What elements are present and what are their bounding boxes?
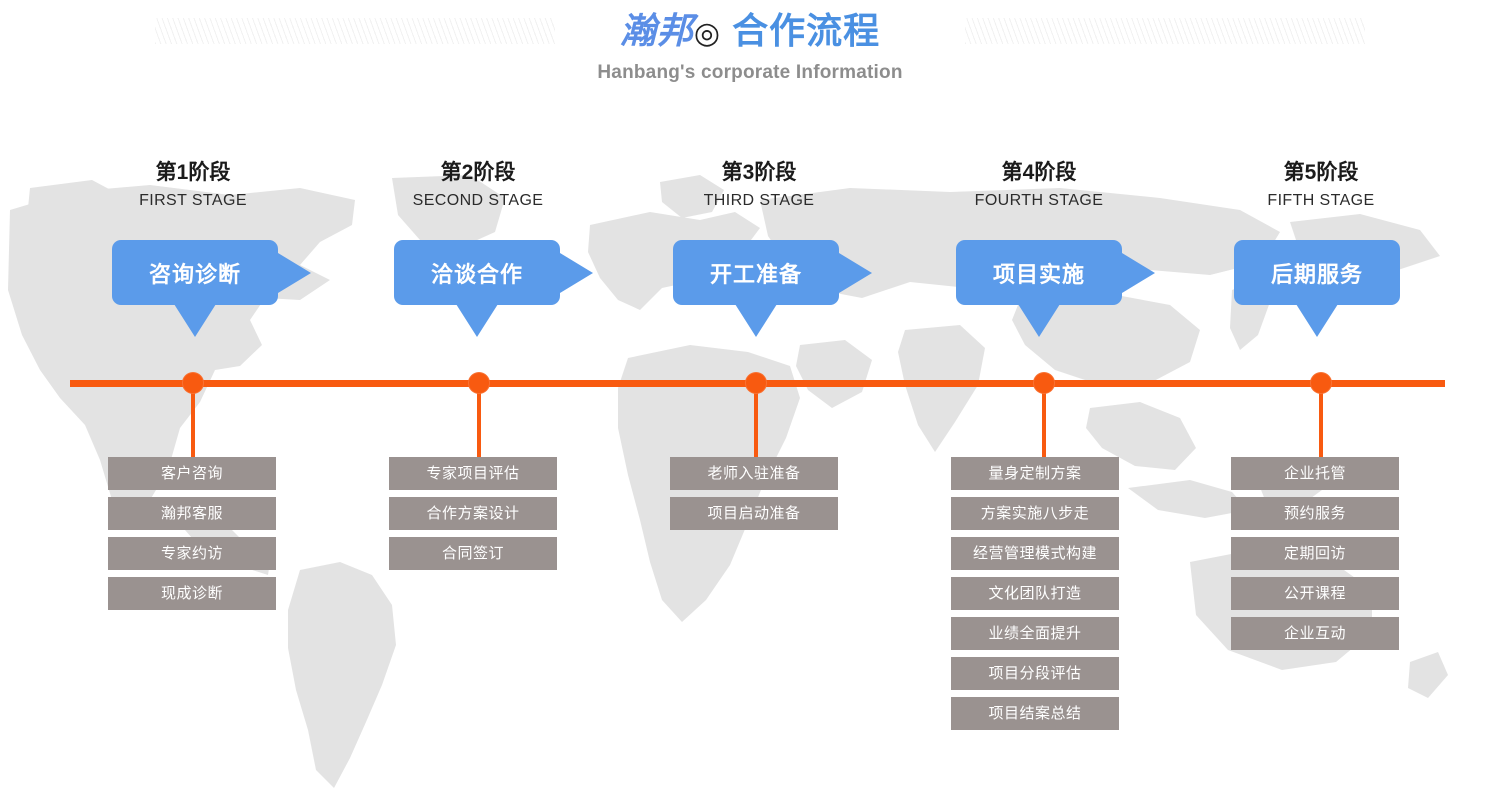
stage-3-callout-label: 开工准备 [710,257,802,289]
list-item[interactable]: 公开课程 [1231,577,1399,610]
stage-header-1: 第1阶段 FIRST STAGE [107,160,279,212]
list-item[interactable]: 合作方案设计 [389,497,557,530]
title-rest: 合作流程 [732,10,880,51]
stage-3-callout[interactable]: 开工准备 [673,240,871,340]
stage-1-callout-label: 咨询诊断 [149,257,241,289]
stage-3-title-cn: 第3阶段 [673,160,845,186]
stage-2-callout-label: 洽谈合作 [431,257,523,289]
stage-2-arrow-right-icon [560,253,593,293]
stage-2-title-cn: 第2阶段 [392,160,564,186]
title-mark-icon: ◎ [694,17,721,50]
list-item[interactable]: 方案实施八步走 [951,497,1119,530]
list-item[interactable]: 瀚邦客服 [108,497,276,530]
timeline-dot-stage-5[interactable] [1310,372,1332,394]
stage-4-pointer-down-icon [1018,304,1060,337]
timeline-dot-stage-2[interactable] [468,372,490,394]
stage-2-callout[interactable]: 洽谈合作 [394,240,592,340]
stage-header-3: 第3阶段 THIRD STAGE [673,160,845,212]
stage-4-arrow-right-icon [1122,253,1155,293]
list-item[interactable]: 预约服务 [1231,497,1399,530]
list-item[interactable]: 现成诊断 [108,577,276,610]
stage-2-title-en: SECOND STAGE [392,190,564,212]
stage-4-callout[interactable]: 项目实施 [956,240,1154,340]
timeline-connector-stage-3 [754,383,758,458]
list-item[interactable]: 定期回访 [1231,537,1399,570]
list-item[interactable]: 客户咨询 [108,457,276,490]
title-brand: 瀚邦 [620,11,694,52]
list-item[interactable]: 专家项目评估 [389,457,557,490]
list-item[interactable]: 量身定制方案 [951,457,1119,490]
stage-1-arrow-right-icon [278,253,311,293]
page-title: 瀚邦◎ 合作流程 [0,9,1500,56]
stage-4-item-list: 量身定制方案 方案实施八步走 经营管理模式构建 文化团队打造 业绩全面提升 项目… [951,457,1119,737]
stage-1-item-list: 客户咨询 瀚邦客服 专家约访 现成诊断 [108,457,276,617]
list-item[interactable]: 企业互动 [1231,617,1399,650]
timeline-dot-stage-4[interactable] [1033,372,1055,394]
stage-5-callout[interactable]: 后期服务 [1234,240,1432,340]
page-header: 瀚邦◎ 合作流程 Hanbang's corporate Information [0,0,1500,105]
timeline-dot-stage-1[interactable] [182,372,204,394]
list-item[interactable]: 项目分段评估 [951,657,1119,690]
page-subtitle: Hanbang's corporate Information [0,62,1500,84]
infographic-root: 瀚邦◎ 合作流程 Hanbang's corporate Information… [0,0,1500,795]
stage-header-4: 第4阶段 FOURTH STAGE [953,160,1125,212]
timeline-connector-stage-4 [1042,383,1046,458]
stage-5-pointer-down-icon [1296,304,1338,337]
stage-3-title-en: THIRD STAGE [673,190,845,212]
stage-3-arrow-right-icon [839,253,872,293]
list-item[interactable]: 项目结案总结 [951,697,1119,730]
stage-4-title-cn: 第4阶段 [953,160,1125,186]
list-item[interactable]: 经营管理模式构建 [951,537,1119,570]
list-item[interactable]: 项目启动准备 [670,497,838,530]
stage-3-pointer-down-icon [735,304,777,337]
stage-5-callout-label: 后期服务 [1271,257,1363,289]
timeline-connector-stage-5 [1319,383,1323,458]
list-item[interactable]: 专家约访 [108,537,276,570]
stage-4-title-en: FOURTH STAGE [953,190,1125,212]
stage-5-title-en: FIFTH STAGE [1235,190,1407,212]
stage-1-title-cn: 第1阶段 [107,160,279,186]
stage-5-title-cn: 第5阶段 [1235,160,1407,186]
stage-3-item-list: 老师入驻准备 项目启动准备 [670,457,838,537]
stage-1-pointer-down-icon [174,304,216,337]
list-item[interactable]: 文化团队打造 [951,577,1119,610]
stage-2-item-list: 专家项目评估 合作方案设计 合同签订 [389,457,557,577]
list-item[interactable]: 合同签订 [389,537,557,570]
stage-header-5: 第5阶段 FIFTH STAGE [1235,160,1407,212]
list-item[interactable]: 老师入驻准备 [670,457,838,490]
list-item[interactable]: 企业托管 [1231,457,1399,490]
stage-header-2: 第2阶段 SECOND STAGE [392,160,564,212]
stage-5-item-list: 企业托管 预约服务 定期回访 公开课程 企业互动 [1231,457,1399,657]
stage-4-callout-label: 项目实施 [993,257,1085,289]
timeline-dot-stage-3[interactable] [745,372,767,394]
list-item[interactable]: 业绩全面提升 [951,617,1119,650]
stage-2-pointer-down-icon [456,304,498,337]
stage-1-callout[interactable]: 咨询诊断 [112,240,310,340]
stage-1-title-en: FIRST STAGE [107,190,279,212]
timeline-connector-stage-2 [477,383,481,458]
timeline-connector-stage-1 [191,383,195,458]
